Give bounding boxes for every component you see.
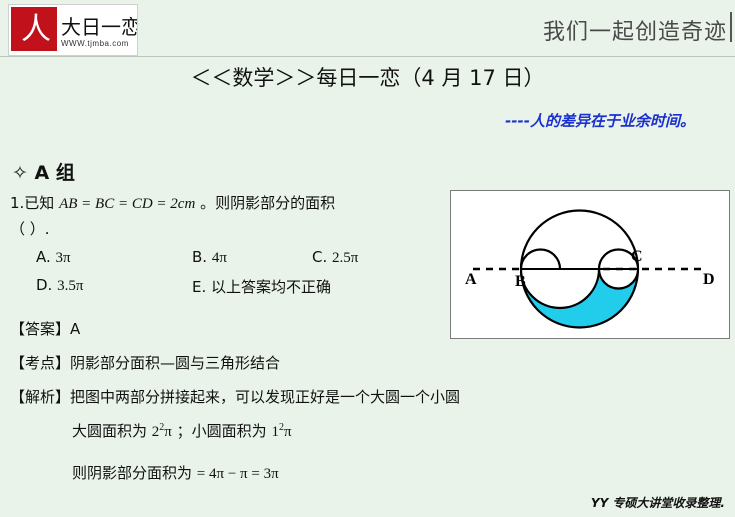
option-d-value: 3.5π [57, 278, 83, 294]
work-line-1: 大圆面积为 22π ；小圆面积为 12π [72, 420, 292, 441]
work-line-1-math-b: 12π [271, 424, 291, 440]
header-rule [0, 56, 735, 57]
option-b: B. 4π [192, 248, 227, 267]
section-heading: ✧ A 组 [12, 158, 75, 185]
option-c-key: C. [312, 248, 327, 266]
geometry-figure: A B C D [450, 190, 730, 339]
logo-url-text: WWW.tjmba.com [61, 39, 129, 48]
option-a: A. 3π [36, 248, 71, 267]
option-a-key: A. [36, 248, 51, 266]
work-line-2-math-a: = 4π − π = 3π [197, 466, 279, 482]
question-stem-suffix: 。则阴影部分的面积 [200, 194, 335, 212]
footer-credit: YY 专硕大讲堂收录整理. [591, 494, 725, 511]
option-b-value: 4π [212, 250, 227, 266]
option-e-key: E. [192, 278, 206, 296]
label-a: A [465, 271, 477, 288]
work-line-2-text-a: 则阴影部分面积为 [72, 464, 192, 482]
label-b: B [515, 273, 526, 290]
label-c: C [631, 248, 643, 265]
page-subtitle: ----人的差异在于业余时间。 [505, 110, 695, 131]
question-stem-math: AB = BC = CD = 2cm [59, 196, 195, 212]
question-blank: （ ）. [10, 218, 50, 239]
work-line-1-text-b: ；小圆面积为 [177, 422, 267, 440]
geometry-figure-svg: A B C D [451, 191, 729, 338]
knowledge-point-line: 【考点】阴影部分面积—圆与三角形结合 [10, 352, 280, 373]
logo-red-block: 人 [11, 7, 57, 51]
logo: 人 大日一恋 WWW.tjmba.com [8, 4, 138, 56]
question-stem-prefix: 1.已知 [10, 194, 54, 212]
page-title: ＜＜数学＞＞每日一恋（4 月 17 日） [0, 62, 735, 92]
slide-page: 人 大日一恋 WWW.tjmba.com 我们一起创造奇迹 ＜＜数学＞＞每日一恋… [0, 0, 735, 517]
option-d: D. 3.5π [36, 276, 83, 295]
label-d: D [703, 271, 715, 288]
person-icon: 人 [21, 13, 49, 47]
question-stem: 1.已知 AB = BC = CD = 2cm 。则阴影部分的面积 [10, 192, 335, 213]
explanation-line: 【解析】把图中两部分拼接起来，可以发现正好是一个大圆一个小圆 [10, 386, 460, 407]
option-e-value: 以上答案均不正确 [211, 278, 331, 296]
work-line-2: 则阴影部分面积为 = 4π − π = 3π [72, 462, 279, 483]
header-slogan: 我们一起创造奇迹 [543, 14, 727, 46]
option-d-key: D. [36, 276, 52, 294]
option-c: C. 2.5π [312, 248, 358, 267]
option-e: E. 以上答案均不正确 [192, 276, 331, 297]
work-line-1-math-a: 22π [152, 424, 172, 440]
slogan-divider [730, 12, 732, 42]
work-line-1-text-a: 大圆面积为 [72, 422, 147, 440]
option-b-key: B. [192, 248, 207, 266]
logo-brand-text: 大日一恋 [61, 11, 138, 40]
option-a-value: 3π [56, 250, 71, 266]
answer-line: 【答案】A [10, 318, 80, 339]
option-c-value: 2.5π [332, 250, 358, 266]
